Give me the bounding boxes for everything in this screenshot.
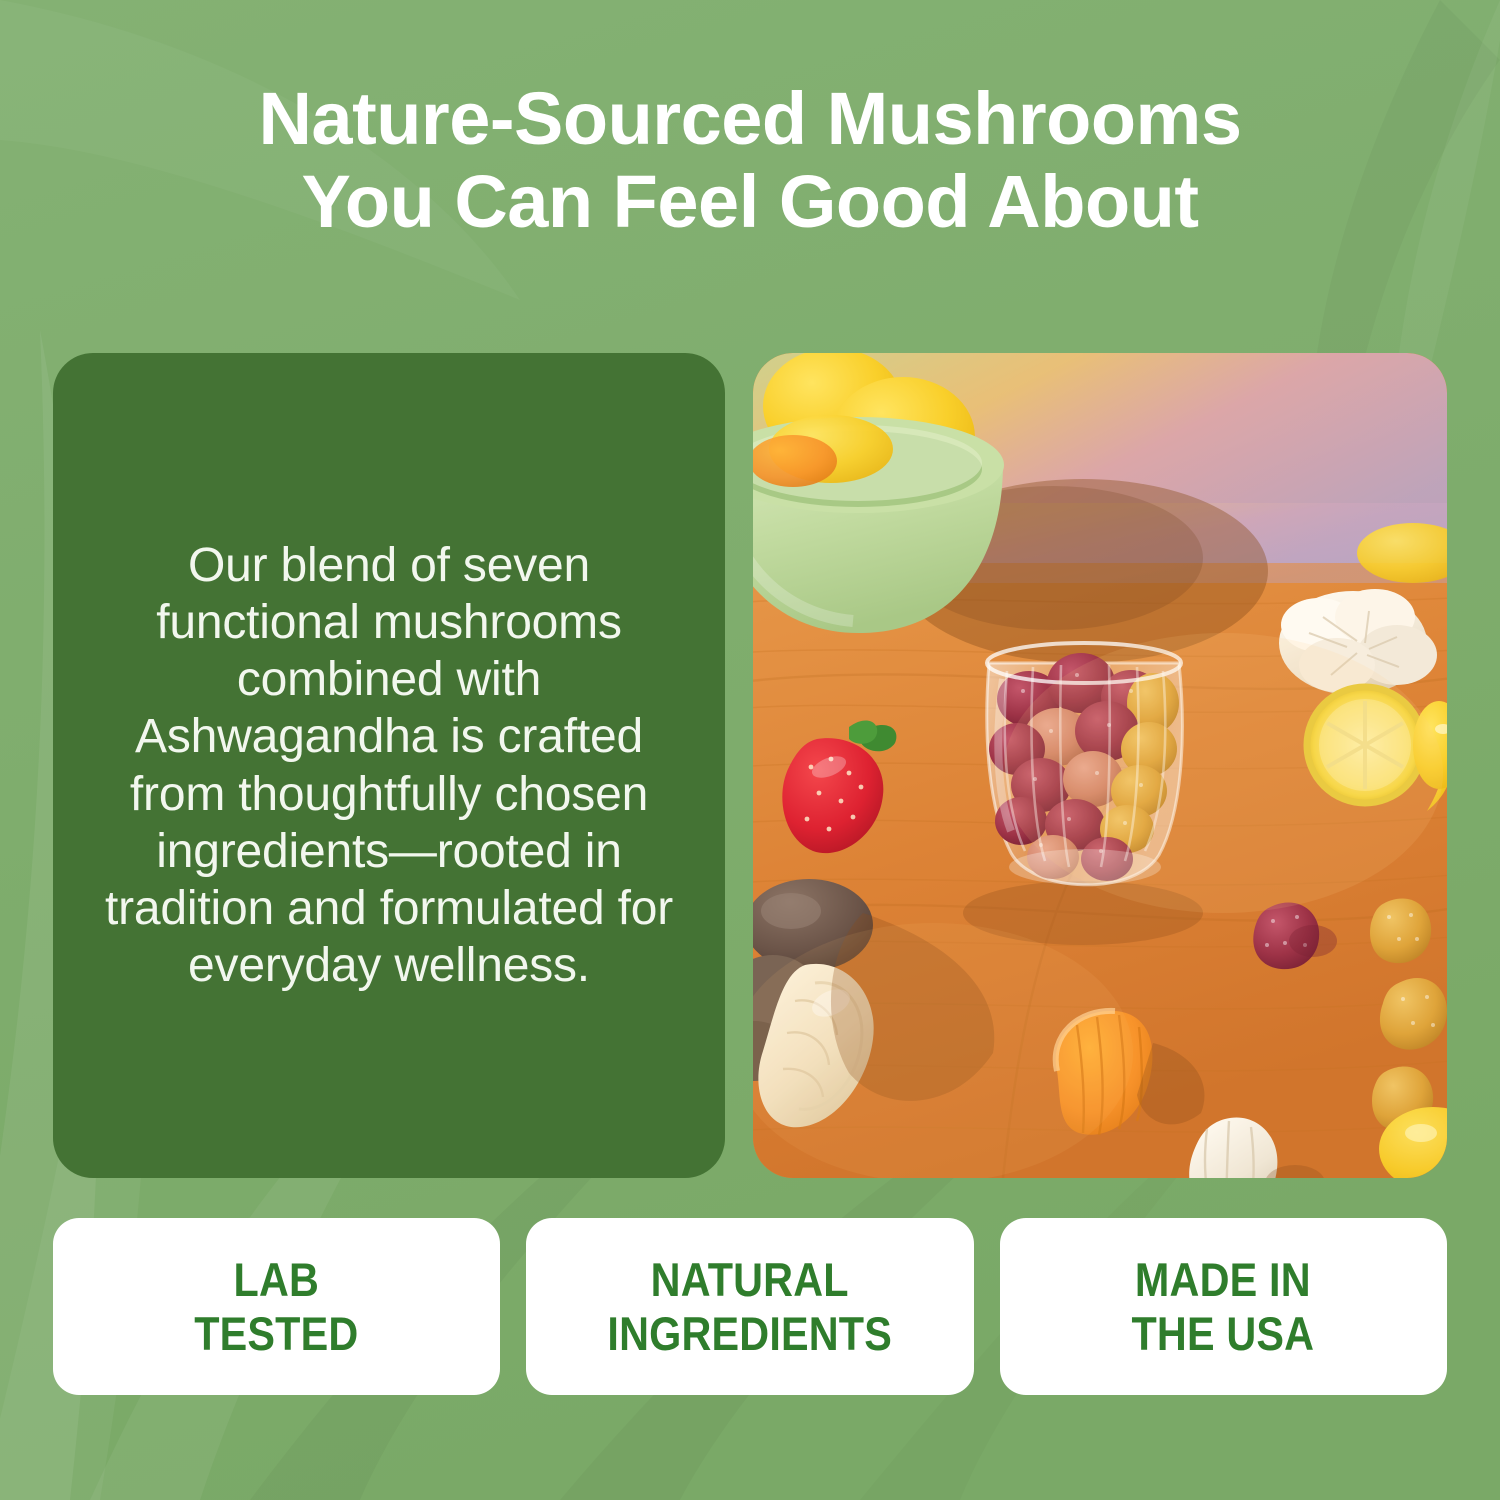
badge-natural-ingredients-line-1: NATURAL: [651, 1253, 849, 1306]
product-photo: Glass jar of sugar-coated mushroom gummi…: [753, 353, 1447, 1178]
trust-badge-row: LAB TESTED NATURAL INGREDIENTS MADE IN T…: [53, 1218, 1447, 1395]
description-card: Our blend of seven functional mushrooms …: [53, 353, 725, 1178]
badge-natural-ingredients-label: NATURAL INGREDIENTS: [608, 1253, 893, 1359]
badge-lab-tested-label: LAB TESTED: [195, 1253, 359, 1359]
badge-made-in-the-usa-label: MADE IN THE USA: [1132, 1253, 1315, 1359]
badge-made-in-the-usa-line-2: THE USA: [1132, 1307, 1315, 1360]
badge-lab-tested[interactable]: LAB TESTED: [53, 1218, 500, 1395]
badge-lab-tested-line-1: LAB: [234, 1253, 320, 1306]
content-row: Our blend of seven functional mushrooms …: [53, 353, 1447, 1178]
badge-made-in-the-usa-line-1: MADE IN: [1135, 1253, 1311, 1306]
badge-lab-tested-line-2: TESTED: [195, 1307, 359, 1360]
page-title-line-1: Nature-Sourced Mushrooms: [60, 78, 1440, 161]
infographic-root: Nature-Sourced Mushrooms You Can Feel Go…: [0, 0, 1500, 1500]
badge-natural-ingredients[interactable]: NATURAL INGREDIENTS: [526, 1218, 973, 1395]
badge-natural-ingredients-line-2: INGREDIENTS: [608, 1307, 893, 1360]
page-title: Nature-Sourced Mushrooms You Can Feel Go…: [0, 78, 1500, 244]
description-text: Our blend of seven functional mushrooms …: [87, 537, 691, 994]
page-title-line-2: You Can Feel Good About: [60, 161, 1440, 244]
badge-made-in-the-usa[interactable]: MADE IN THE USA: [1000, 1218, 1447, 1395]
